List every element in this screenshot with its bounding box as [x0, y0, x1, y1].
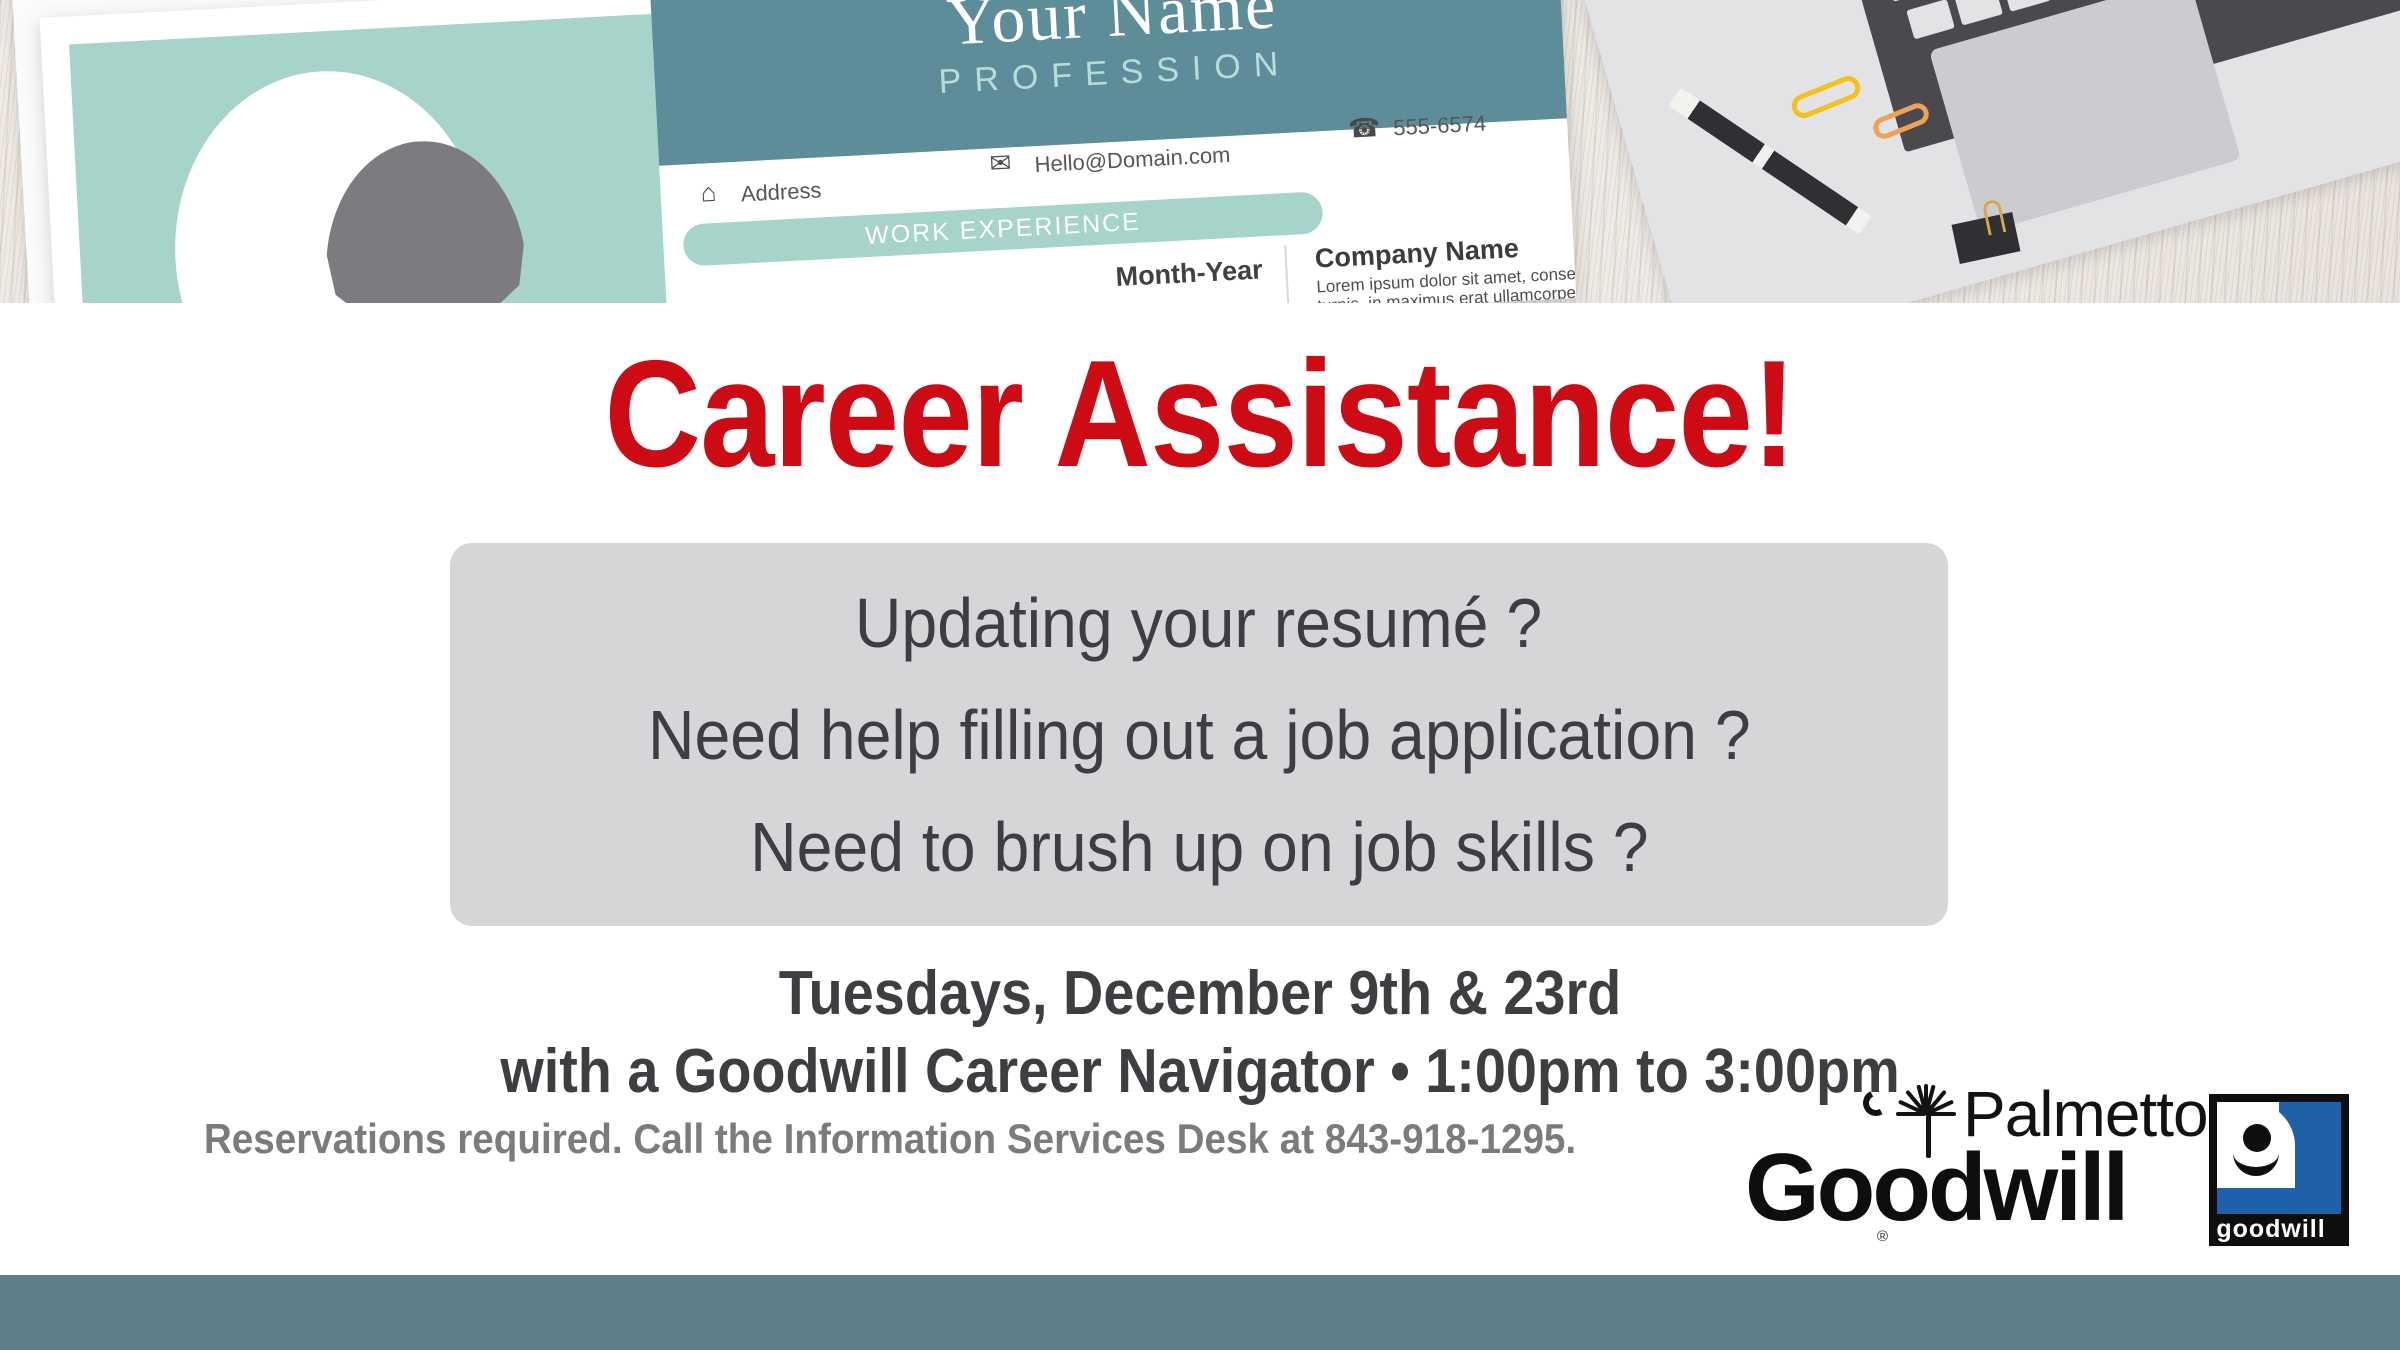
crescent-moon-icon	[1858, 1085, 1893, 1120]
home-icon: ⌂	[700, 177, 717, 209]
resume-contact-phone: 555-6574	[1393, 110, 1487, 141]
question-line-3: Need to brush up on job skills ?	[750, 791, 1649, 903]
reservations-note: Reservations required. Call the Informat…	[71, 1114, 1709, 1164]
goodwill-smile	[2233, 1152, 2279, 1176]
career-assistance-flyer: ABOUT ME Your Name PROFESSION ⌂ Address …	[0, 0, 2400, 1350]
logo-brand-bottom: Goodwill	[1745, 1140, 2126, 1236]
question-line-2: Need help filling out a job application …	[648, 679, 1751, 791]
question-line-1: Updating your resumé ?	[855, 567, 1542, 679]
resume-entry-date: Month-Year	[1115, 254, 1263, 293]
resume-main: Your Name PROFESSION ⌂ Address ✉ Hello@D…	[650, 0, 1577, 303]
resume-contact-address: Address	[740, 177, 822, 207]
hero-photo: ABOUT ME Your Name PROFESSION ⌂ Address …	[0, 0, 2400, 303]
bottom-accent-bar	[0, 1275, 2400, 1350]
avatar-silhouette-icon	[320, 136, 532, 303]
logo-mark-word: goodwill	[2209, 1215, 2333, 1244]
work-experience-label: WORK EXPERIENCE	[864, 207, 1141, 250]
resume-entry-divider	[1284, 245, 1290, 303]
avatar	[166, 63, 494, 303]
palmetto-goodwill-logo: Palmetto Goodwill goodwill ®	[1745, 1082, 2385, 1254]
registered-mark: ®	[1877, 1228, 1888, 1245]
goodwill-eye	[2243, 1124, 2271, 1152]
schedule-dates: Tuesdays, December 9th & 23rd	[120, 955, 2280, 1033]
page-title: Career Assistance!	[144, 338, 2256, 490]
resume-sidebar: ABOUT ME	[69, 14, 669, 303]
envelope-icon: ✉	[989, 147, 1012, 179]
questions-panel: Updating your resumé ? Need help filling…	[450, 543, 1948, 926]
resume-contact-email: Hello@Domain.com	[1034, 142, 1231, 178]
phone-icon: ☎	[1347, 112, 1381, 145]
resume-document: ABOUT ME Your Name PROFESSION ⌂ Address …	[40, 0, 1577, 303]
goodwill-smiling-g-icon: goodwill	[2209, 1094, 2349, 1246]
